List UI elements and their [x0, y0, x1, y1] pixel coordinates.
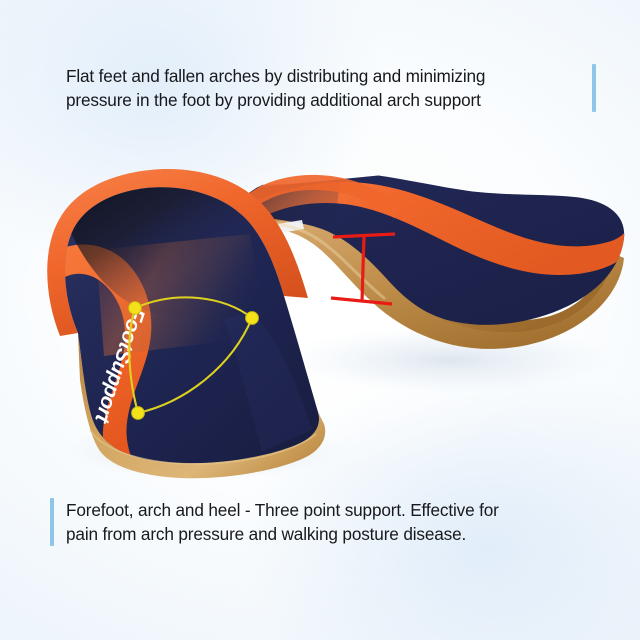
- right-insole: [230, 150, 640, 349]
- arch-support-point: [129, 302, 142, 315]
- product-infographic-page: Flat feet and fallen arches by distribut…: [0, 0, 640, 640]
- heel-support-point: [132, 407, 145, 420]
- product-photo: FootSupport: [0, 130, 640, 490]
- caption-top-accent-bar: [592, 64, 596, 112]
- caption-bottom-text: Forefoot, arch and heel - Three point su…: [66, 498, 499, 546]
- caption-top-text: Flat feet and fallen arches by distribut…: [66, 64, 582, 112]
- caption-bottom: Forefoot, arch and heel - Three point su…: [50, 498, 596, 546]
- forefoot-support-point: [246, 312, 259, 325]
- caption-bottom-accent-bar: [50, 498, 54, 546]
- caption-top: Flat feet and fallen arches by distribut…: [66, 64, 596, 112]
- arch-height-vertical-line: [362, 235, 364, 302]
